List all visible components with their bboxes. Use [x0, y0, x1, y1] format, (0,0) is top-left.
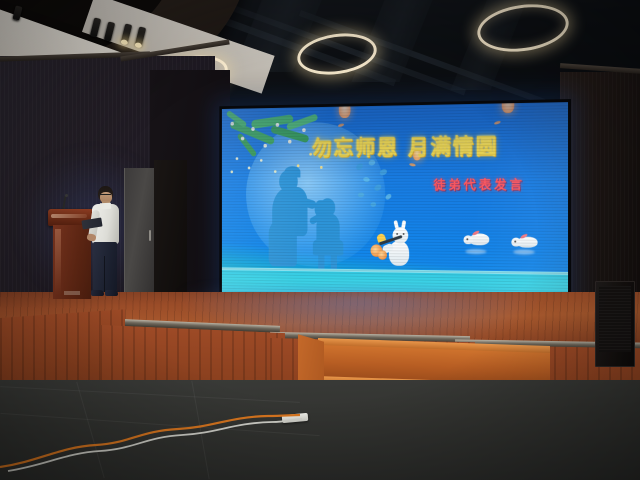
cable-white — [8, 419, 302, 471]
led-screen: 勿忘师恩 月满情圆 徒弟代表发言 — [219, 99, 571, 309]
auditorium-scene: 勿忘师恩 月满情圆 徒弟代表发言 — [0, 0, 640, 480]
microphone-head-icon — [65, 194, 68, 197]
floor-cables — [0, 395, 320, 475]
loudspeaker-cabinet — [595, 281, 635, 367]
person-trousers — [93, 242, 117, 292]
door-handle-icon[interactable] — [149, 230, 151, 241]
led-screen-content: 勿忘师恩 月满情圆 徒弟代表发言 — [222, 102, 568, 306]
speaker-person — [88, 186, 122, 300]
glasses-icon — [99, 194, 111, 197]
